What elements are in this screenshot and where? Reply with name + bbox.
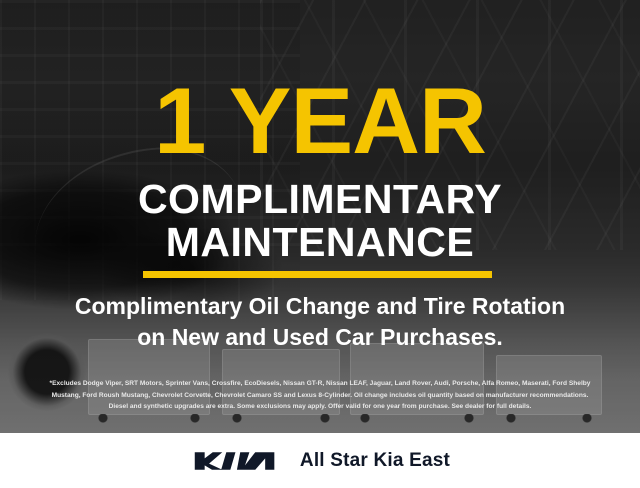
- banner-footer: All Star Kia East: [0, 433, 640, 488]
- yellow-divider-bar: [143, 271, 492, 278]
- subheadline: Complimentary Oil Change and Tire Rotati…: [0, 291, 640, 353]
- headline-secondary-line2: MAINTENANCE: [0, 221, 640, 264]
- promotional-banner: 1 YEAR COMPLIMENTARY MAINTENANCE Complim…: [0, 0, 640, 488]
- disclaimer-line2: Mustang, Ford Roush Mustang, Chevrolet C…: [14, 390, 626, 402]
- hero-section: 1 YEAR COMPLIMENTARY MAINTENANCE Complim…: [0, 0, 640, 433]
- dealer-name: All Star Kia East: [300, 450, 450, 472]
- disclaimer-line3: Diesel and synthetic upgrades are extra.…: [14, 401, 626, 413]
- headline-primary: 1 YEAR: [0, 74, 640, 168]
- disclaimer-line1: *Excludes Dodge Viper, SRT Motors, Sprin…: [14, 378, 626, 390]
- banner-content: 1 YEAR COMPLIMENTARY MAINTENANCE Complim…: [0, 0, 640, 433]
- subheadline-line2: on New and Used Car Purchases.: [0, 322, 640, 353]
- headline-secondary-line1: COMPLIMENTARY: [0, 178, 640, 221]
- disclaimer-text: *Excludes Dodge Viper, SRT Motors, Sprin…: [14, 378, 626, 413]
- subheadline-line1: Complimentary Oil Change and Tire Rotati…: [0, 291, 640, 322]
- kia-logo: [190, 450, 278, 472]
